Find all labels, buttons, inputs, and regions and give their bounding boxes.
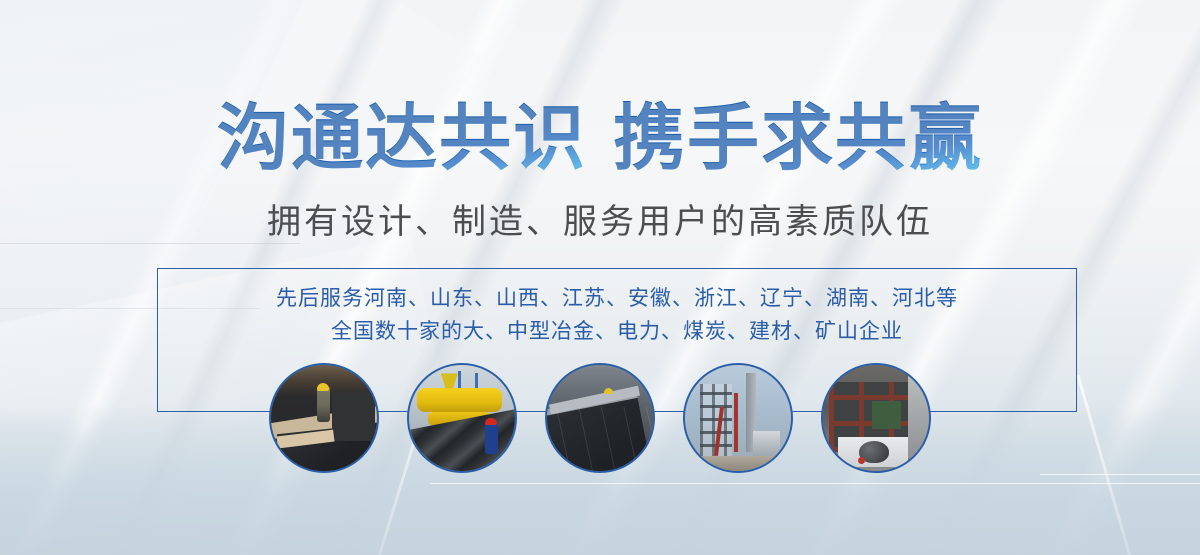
photo-plant-construction-scaffolding[interactable]	[683, 363, 793, 473]
background-hairline-lower-left	[430, 483, 1200, 484]
banner-headline: 沟通达共识携手求共赢	[0, 96, 1200, 180]
photo-steel-hopper-panel[interactable]	[545, 363, 655, 473]
promo-banner: 沟通达共识携手求共赢 拥有设计、制造、服务用户的高素质队伍 先后服务河南、山东、…	[0, 0, 1200, 555]
thumbnail-image	[685, 365, 791, 471]
headline-part-1: 沟通达共识	[217, 96, 587, 180]
thumbnail-strip	[0, 363, 1200, 475]
thumbnail-image	[547, 365, 653, 471]
banner-body-text: 先后服务河南、山东、山西、江苏、安徽、浙江、辽宁、湖南、河北等 全国数十家的大、…	[157, 282, 1077, 348]
thumbnail-image	[823, 365, 929, 471]
banner-subtitle: 拥有设计、制造、服务用户的高素质队伍	[0, 200, 1200, 244]
photo-site-lining-installation[interactable]	[269, 363, 379, 473]
body-text-line-2: 全国数十家的大、中型冶金、电力、煤炭、建材、矿山企业	[157, 315, 1077, 348]
photo-workshop-steel-framework[interactable]	[821, 363, 931, 473]
thumbnail-image	[271, 365, 377, 471]
photo-yellow-tank-and-pipes[interactable]	[407, 363, 517, 473]
headline-part-2: 携手求共赢	[613, 96, 983, 180]
body-text-line-1: 先后服务河南、山东、山西、江苏、安徽、浙江、辽宁、湖南、河北等	[157, 282, 1077, 315]
thumbnail-image	[409, 365, 515, 471]
